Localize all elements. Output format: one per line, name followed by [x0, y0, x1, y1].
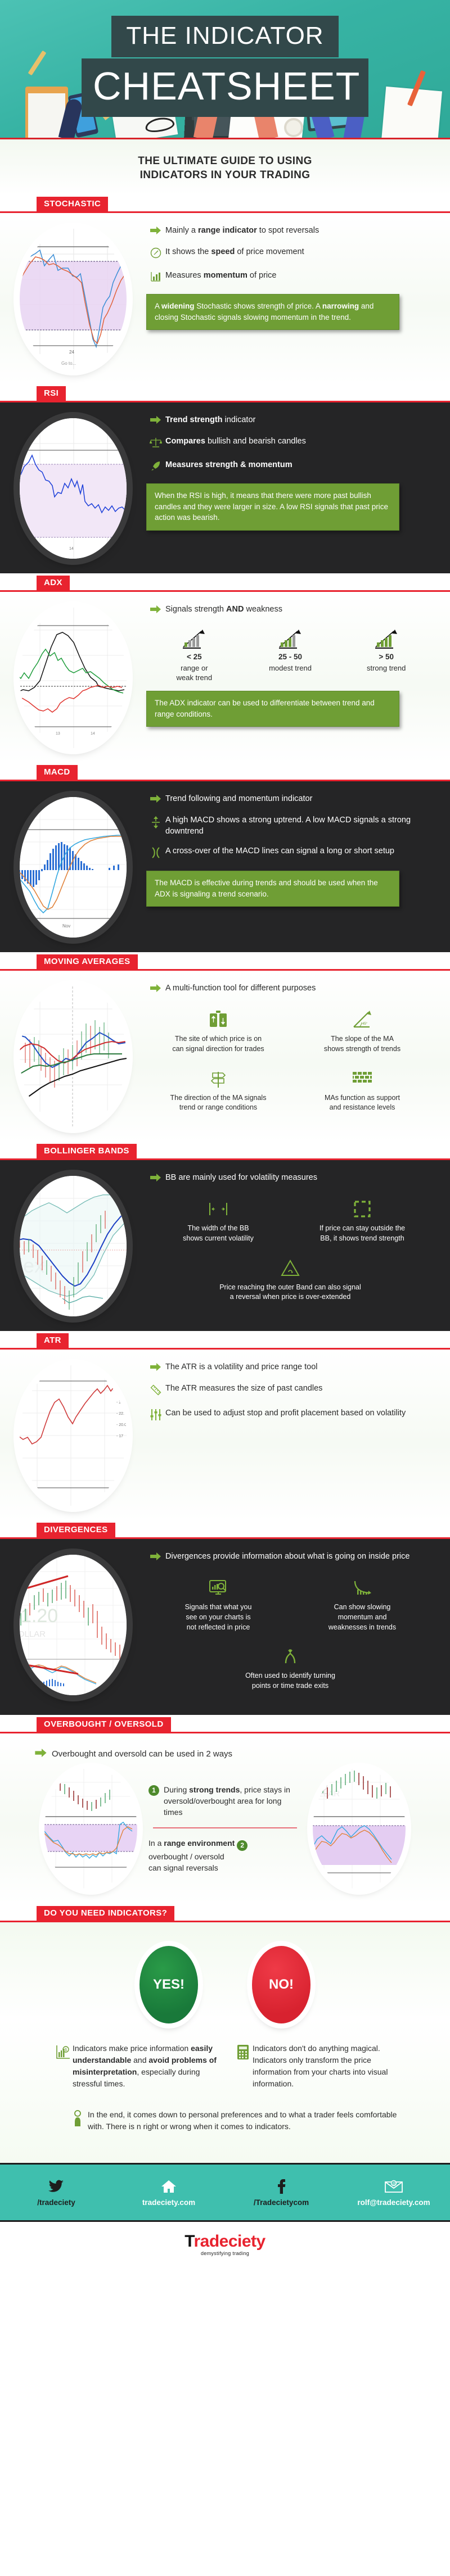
overbought-item-text: In a range environment 2overbought / ove…: [148, 1837, 252, 1874]
stochastic-chart: 24 Go to...: [20, 229, 127, 369]
bullet-item: Signals strength AND weakness: [146, 604, 434, 617]
bullet-item: Mainly a range indicator to spot reversa…: [146, 225, 434, 238]
bullet-text: BB are mainly used for volatility measur…: [165, 1172, 317, 1184]
bullet-text: A multi-function tool for different purp…: [165, 983, 316, 994]
note-box: The ADX indicator can be used to differe…: [146, 691, 399, 727]
yes-text: Indicators make price information easily…: [73, 2043, 217, 2090]
feature-grid: The site of which price is oncan signal …: [146, 1004, 434, 1122]
chart-column: 1.20 DOLLAR: [0, 1551, 146, 1695]
chart-column: 13 14: [0, 415, 146, 559]
arrow-right-icon: [146, 415, 165, 427]
up-down-toggle-icon: [153, 1009, 283, 1030]
section-body-adx: 12 13 14 Signals strength AND weakness: [0, 592, 450, 763]
person-icon: [67, 2109, 88, 2130]
subtitle-block: THE ULTIMATE GUIDE TO USING INDICATORS I…: [0, 139, 450, 194]
svg-text:- 17: - 17: [116, 1434, 123, 1438]
bullet-text: Divergences provide information about wh…: [165, 1551, 409, 1563]
svg-text:- 22.5: - 22.5: [116, 1412, 127, 1416]
text-column: Trend strength indicator Compares bullis…: [146, 415, 450, 531]
arrow-right-icon: [146, 794, 165, 806]
footer-facebook[interactable]: /Tradecietycom: [228, 2177, 335, 2207]
feature-item: Can show slowingmomentum andweaknesses i…: [290, 1573, 434, 1641]
svg-text:45°: 45°: [362, 1022, 368, 1026]
declining-bars-icon: [297, 1577, 427, 1599]
angle-slope-icon: 45°: [297, 1009, 427, 1030]
feature-item: The direction of the MA signalstrend or …: [146, 1063, 290, 1122]
footer-label[interactable]: rolf@tradeciety.com: [340, 2198, 447, 2207]
atr-chart: - 25- 22.5 - 20.0- 17: [20, 1365, 127, 1506]
chart-column: 24 Go to...: [0, 225, 146, 369]
section-title-divergences: DIVERGENCES: [37, 1523, 115, 1537]
adx-level-label: modest trend: [245, 664, 336, 673]
section-title-moving-averages: MOVING AVERAGES: [37, 954, 138, 969]
adx-level-item: 25 - 50 modest trend: [242, 626, 339, 683]
arrow-right-icon: [146, 1172, 165, 1185]
section-title-macd: MACD: [37, 765, 78, 780]
yes-column: $ Indicators make price information easi…: [53, 2043, 217, 2090]
feature-item: Signals that what yousee on your charts …: [146, 1573, 290, 1641]
feature-grid: Signals that what yousee on your charts …: [146, 1573, 434, 1700]
macd-chart: Nov: [20, 797, 127, 938]
bullet-text: A cross-over of the MACD lines can signa…: [165, 846, 394, 857]
section-tab-row-moving-averages: MOVING AVERAGES: [0, 952, 450, 969]
section-title-atr: ATR: [37, 1333, 69, 1348]
final-note-row: In the end, it comes down to personal pr…: [0, 2090, 450, 2138]
feature-text: The width of the BBshows current volatil…: [153, 1224, 283, 1244]
twitter-icon[interactable]: [3, 2177, 110, 2196]
chart-column: Nov: [0, 794, 146, 938]
bullet-item: Divergences provide information about wh…: [146, 1551, 434, 1564]
footer-label[interactable]: /tradeciety: [3, 2198, 110, 2207]
overbought-item-text: During strong trends, price stays in ove…: [159, 1784, 301, 1818]
section-body-rsi: 13 14 Trend strength indicator Compar: [0, 402, 450, 573]
note-box: The MACD is effective during trends and …: [146, 871, 399, 907]
section-tab-row-need-indicators: DO YOU NEED INDICATORS?: [0, 1904, 450, 1921]
feature-text: Can show slowingmomentum andweaknesses i…: [297, 1602, 427, 1632]
brand-name-text: radeciety: [193, 2232, 265, 2251]
brand-initial: T: [184, 2232, 193, 2251]
feature-item: If price can stay outside theBB, it show…: [290, 1194, 434, 1253]
no-column: Indicators don't do anything magical. In…: [233, 2043, 397, 2090]
bullet-text: Measures strength & momentum: [165, 460, 292, 471]
bullet-text: Signals strength AND weakness: [165, 604, 282, 615]
bullet-item: A multi-function tool for different purp…: [146, 983, 434, 995]
section-title-bollinger-bands: BOLLINGER BANDS: [37, 1144, 137, 1158]
warning-triangle-icon: [153, 1257, 427, 1279]
section-tab-row-adx: ADX: [0, 573, 450, 590]
bullet-text: Measures momentum of price: [165, 270, 276, 282]
footer-social-bar: /tradeciety tradeciety.com /Tradecietyco…: [0, 2163, 450, 2222]
brick-wall-icon: [297, 1068, 427, 1089]
bullet-text: Can be used to adjust stop and profit pl…: [165, 1408, 406, 1419]
feature-text: Signals that what yousee on your charts …: [153, 1602, 283, 1632]
section-title-overbought-oversold: OVERBOUGHT / OVERSOLD: [37, 1717, 171, 1732]
adx-level-item: < 25 range orweak trend: [146, 626, 242, 683]
bullet-text: Compares bullish and bearish candles: [165, 436, 306, 447]
note-box: A widening Stochastic shows strength of …: [146, 294, 399, 330]
bullet-text: Trend following and momentum indicator: [165, 794, 312, 805]
section-title-stochastic: STOCHASTIC: [37, 197, 108, 211]
bullet-item: Trend following and momentum indicator: [146, 794, 434, 806]
overbought-headline-row: Overbought and oversold can be used in 2…: [0, 1746, 450, 1768]
brand-tagline: demystifying trading: [0, 2251, 450, 2256]
section-body-need-indicators: YES! NO! $ Indicators make price informa…: [0, 1922, 450, 2163]
feature-item: MAs function as supportand resistance le…: [290, 1063, 434, 1122]
svg-text:12: 12: [22, 732, 26, 736]
feature-grid: The width of the BBshows current volatil…: [146, 1194, 434, 1311]
infographic-page: THE INDICATOR CHEATSHEET THE ULTIMATE GU…: [0, 0, 450, 2266]
bullet-item: Trend strength indicator: [146, 415, 434, 427]
feature-text: Price reaching the outer Band can also s…: [153, 1283, 427, 1303]
step-number-badge: 2: [237, 1840, 247, 1851]
section-tab-row-overbought-oversold: OVERBOUGHT / OVERSOLD: [0, 1715, 450, 1732]
final-note-text: In the end, it comes down to personal pr…: [88, 2109, 399, 2133]
facebook-icon[interactable]: [228, 2177, 335, 2196]
turning-arrows-icon: [153, 1646, 427, 1667]
overbought-text-column: 1 During strong trends, price stays in o…: [141, 1784, 309, 1873]
dashed-square-icon: [297, 1198, 427, 1220]
adx-level-item: > 50 strong trend: [338, 626, 434, 683]
bullet-text: A high MACD shows a strong uptrend. A lo…: [165, 815, 434, 837]
chart-column: 12 13 14: [0, 604, 146, 748]
bullet-item: Compares bullish and bearish candles: [146, 436, 434, 451]
bullet-text: Mainly a range indicator to spot reversa…: [165, 225, 319, 237]
feature-item: 45° The slope of the MAshows strength of…: [290, 1004, 434, 1063]
calculator-icon: [233, 2043, 253, 2063]
section-body-moving-averages: A multi-function tool for different purp…: [0, 971, 450, 1142]
chart-column: [0, 983, 146, 1127]
arrow-right-icon: [146, 604, 165, 617]
svg-text:13: 13: [39, 547, 43, 551]
signpost-icon: [153, 1068, 283, 1089]
bullet-text: Trend strength indicator: [165, 415, 255, 426]
cross-over-icon: [146, 846, 165, 862]
bullet-item: A cross-over of the MACD lines can signa…: [146, 846, 434, 862]
growth-bars-icon: [245, 626, 336, 649]
step-number-badge: 1: [148, 1785, 159, 1796]
svg-text:13: 13: [56, 732, 60, 736]
bullet-item: Can be used to adjust stop and profit pl…: [146, 1408, 434, 1424]
adx-chart: 12 13 14: [20, 608, 127, 748]
chart-column: dex: [0, 1172, 146, 1316]
arrow-right-icon: [146, 1362, 165, 1374]
divergences-chart: 1.20 DOLLAR: [20, 1555, 127, 1695]
svg-text:- 20.0: - 20.0: [116, 1423, 127, 1427]
bullet-text: The ATR measures the size of past candle…: [165, 1383, 322, 1395]
arrow-right-icon: [146, 983, 165, 995]
svg-text:Go to...: Go to...: [61, 361, 76, 366]
footer-label[interactable]: /Tradecietycom: [228, 2198, 335, 2207]
bollinger-bands-chart: dex: [20, 1176, 127, 1316]
feature-text: The slope of the MAshows strength of tre…: [297, 1034, 427, 1054]
no-text: Indicators don't do anything magical. In…: [253, 2043, 397, 2090]
svg-text:@: @: [392, 2182, 396, 2186]
svg-text:24: 24: [69, 350, 74, 355]
svg-text:Nov: Nov: [62, 923, 70, 929]
feature-text: The site of which price is oncan signal …: [153, 1034, 283, 1054]
adx-level-value: < 25: [148, 653, 240, 661]
overbought-headline: Overbought and oversold can be used in 2…: [52, 1749, 232, 1760]
section-body-stochastic: 24 Go to... Mainly a range indicator to …: [0, 213, 450, 384]
overbought-chart-right: 1.2 DOLLAR: [313, 1768, 406, 1889]
svg-text:14: 14: [69, 547, 74, 551]
chart-column: - 25- 22.5 - 20.0- 17: [0, 1362, 146, 1506]
hero-title-line-2: CHEATSHEET: [82, 58, 368, 117]
bullet-text: The ATR is a volatility and price range …: [165, 1362, 318, 1373]
adx-level-label: strong trend: [340, 664, 432, 673]
bullet-text: It shows the speed of price movement: [165, 247, 304, 258]
section-tab-row-macd: MACD: [0, 763, 450, 780]
svg-text:DOLLAR: DOLLAR: [313, 1789, 340, 1799]
divider: [153, 1827, 297, 1828]
bullet-item: A high MACD shows a strong uptrend. A lo…: [146, 815, 434, 837]
feature-item: The site of which price is oncan signal …: [146, 1004, 290, 1063]
overbought-chart-left: [44, 1768, 137, 1889]
growth-bars-icon: [148, 626, 240, 649]
svg-text:14: 14: [91, 732, 95, 736]
section-body-divergences: 1.20 DOLLAR: [0, 1539, 450, 1715]
overbought-item-2: In a range environment 2overbought / ove…: [148, 1837, 301, 1874]
up-down-arrows-icon: [146, 815, 165, 832]
footer-label[interactable]: tradeciety.com: [115, 2198, 222, 2207]
arrow-right-icon: [146, 1551, 165, 1564]
svg-text:DOLLAR: DOLLAR: [20, 1629, 46, 1639]
section-body-bollinger-bands: dex: [0, 1160, 450, 1331]
rsi-chart: 13 14: [20, 418, 127, 559]
ruler-icon: [146, 1383, 165, 1399]
footer-website[interactable]: tradeciety.com: [115, 2177, 222, 2207]
adx-level-value: > 50: [340, 653, 432, 661]
adx-levels-grid: < 25 range orweak trend 25 - 5: [146, 626, 434, 683]
feature-text: If price can stay outside theBB, it show…: [297, 1224, 427, 1244]
section-title-rsi: RSI: [37, 386, 66, 401]
section-title-need-indicators: DO YOU NEED INDICATORS?: [37, 1906, 174, 1921]
bullet-item: BB are mainly used for volatility measur…: [146, 1172, 434, 1185]
width-measure-icon: [153, 1198, 283, 1220]
feature-item: Price reaching the outer Band can also s…: [146, 1253, 434, 1312]
feature-item: Often used to identify turningpoints or …: [146, 1641, 434, 1700]
bullet-item: The ATR measures the size of past candle…: [146, 1383, 434, 1399]
yes-badge: YES!: [139, 1946, 198, 2023]
note-box: When the RSI is high, it means that ther…: [146, 483, 399, 531]
brand-name: Tradeciety: [0, 2233, 450, 2250]
text-column: BB are mainly used for volatility measur…: [146, 1172, 450, 1311]
home-icon[interactable]: [115, 2177, 222, 2196]
section-tab-row-stochastic: STOCHASTIC: [0, 194, 450, 211]
text-column: A multi-function tool for different purp…: [146, 983, 450, 1122]
text-column: Trend following and momentum indicator A…: [146, 794, 450, 907]
chart-money-icon: $: [53, 2043, 73, 2063]
adx-level-label: range orweak trend: [148, 664, 240, 683]
feature-item: The width of the BBshows current volatil…: [146, 1194, 290, 1253]
subtitle-line-1: THE ULTIMATE GUIDE TO USING: [0, 154, 450, 168]
svg-text:- 25: - 25: [116, 1401, 123, 1405]
bullet-item: Measures strength & momentum: [146, 460, 434, 474]
adx-level-value: 25 - 50: [245, 653, 336, 661]
text-column: Divergences provide information about wh…: [146, 1551, 450, 1700]
moving-averages-chart: [20, 986, 127, 1127]
brand-logo: Tradeciety demystifying trading: [0, 2222, 450, 2266]
speedometer-icon: [146, 247, 165, 261]
arrow-right-icon: [35, 1748, 52, 1760]
footer-email[interactable]: @ rolf@tradeciety.com: [340, 2177, 447, 2207]
hero-divider: [0, 138, 450, 139]
rocket-icon: [146, 460, 165, 474]
svg-text:$: $: [65, 2048, 67, 2052]
bullet-item: It shows the speed of price movement: [146, 247, 434, 261]
bullet-item: The ATR is a volatility and price range …: [146, 1362, 434, 1374]
bullet-item: Measures momentum of price: [146, 270, 434, 285]
section-body-macd: Nov Trend following and momentum indicat…: [0, 781, 450, 952]
section-tab-row-bollinger-bands: BOLLINGER BANDS: [0, 1142, 450, 1158]
no-badge: NO!: [252, 1946, 310, 2023]
feature-text: The direction of the MA signalstrend or …: [153, 1093, 283, 1113]
coffee-mug-illustration: [284, 118, 303, 137]
feature-text: Often used to identify turningpoints or …: [153, 1671, 427, 1691]
section-tab-row-rsi: RSI: [0, 384, 450, 401]
email-icon[interactable]: @: [340, 2177, 447, 2196]
overbought-item-1: 1 During strong trends, price stays in o…: [148, 1784, 301, 1818]
section-title-adx: ADX: [37, 576, 70, 590]
section-body-atr: - 25- 22.5 - 20.0- 17 The ATR is a volat…: [0, 1350, 450, 1520]
subtitle-line-2: INDICATORS IN YOUR TRADING: [0, 168, 450, 182]
feature-text: MAs function as supportand resistance le…: [297, 1093, 427, 1113]
scales-icon: [146, 436, 165, 451]
section-tab-row-atr: ATR: [0, 1331, 450, 1348]
footer-twitter[interactable]: /tradeciety: [3, 2177, 110, 2207]
text-column: The ATR is a volatility and price range …: [146, 1362, 450, 1433]
text-column: Signals strength AND weakness < 25: [146, 604, 450, 727]
svg-text:1.20: 1.20: [21, 1605, 58, 1627]
hero-banner: THE INDICATOR CHEATSHEET: [0, 0, 450, 139]
bar-chart-icon: [146, 270, 165, 285]
sliders-icon: [146, 1408, 165, 1424]
section-body-overbought-oversold: Overbought and oversold can be used in 2…: [0, 1733, 450, 1904]
text-column: Mainly a range indicator to spot reversa…: [146, 225, 450, 330]
chart-search-icon: [153, 1577, 283, 1599]
arrow-right-icon: [146, 225, 165, 238]
section-tab-row-divergences: DIVERGENCES: [0, 1520, 450, 1537]
hero-title-line-1: THE INDICATOR: [111, 16, 338, 57]
growth-bars-icon: [340, 626, 432, 649]
